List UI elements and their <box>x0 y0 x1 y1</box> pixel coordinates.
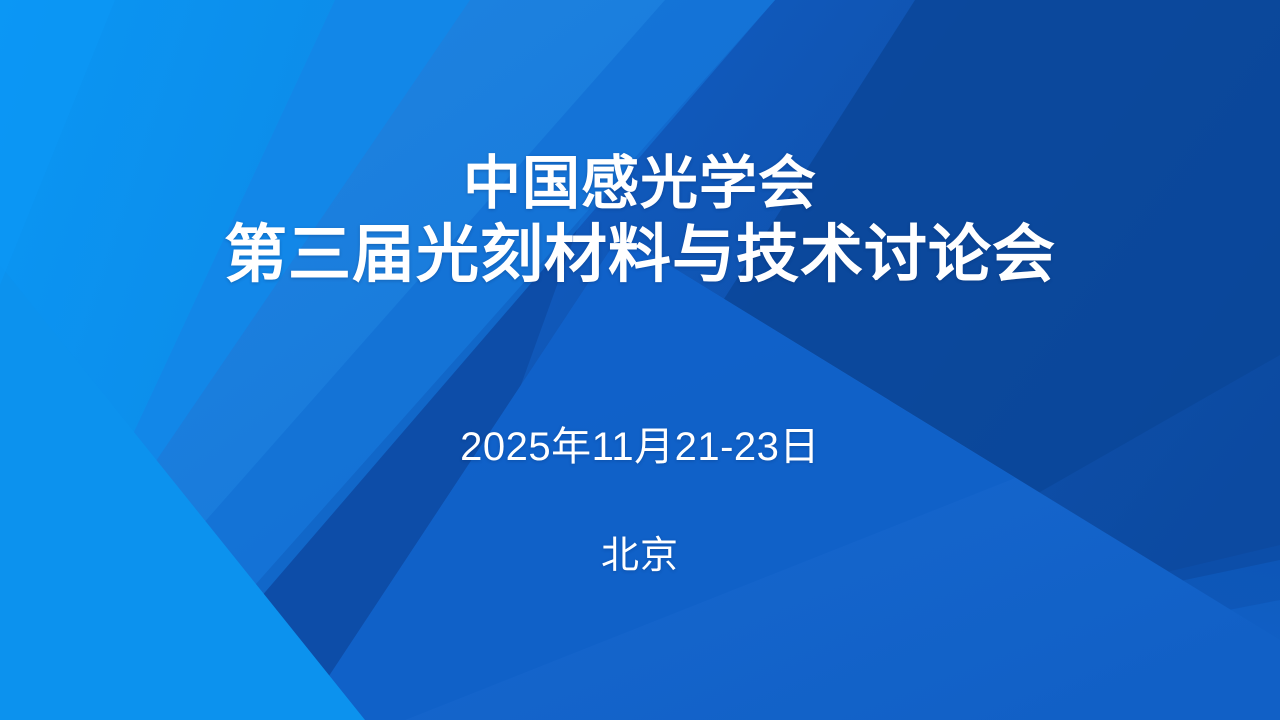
event-venue: 北京 <box>0 524 1280 579</box>
event-date: 2025年11月21-23日 <box>0 414 1280 472</box>
title-slide: 中国感光学会 第三届光刻材料与技术讨论会 2025年11月21-23日 北京 <box>0 0 1280 720</box>
title-line-1: 中国感光学会 <box>0 150 1280 218</box>
slide-content: 中国感光学会 第三届光刻材料与技术讨论会 2025年11月21-23日 北京 <box>0 0 1280 720</box>
title-line-2: 第三届光刻材料与技术讨论会 <box>0 218 1280 292</box>
page-title: 中国感光学会 第三届光刻材料与技术讨论会 <box>0 150 1280 293</box>
